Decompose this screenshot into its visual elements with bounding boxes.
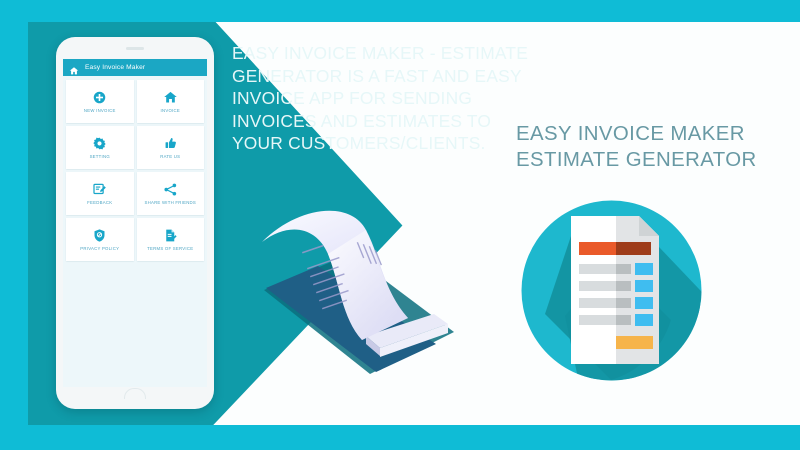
tile-label: Setting [90,154,110,159]
tile-label: Rate Us [160,154,180,159]
tile-label: Invoice [161,108,180,113]
gear-icon [92,136,107,151]
headline-text: Easy Invoice Maker - Estimate Generator … [232,42,532,155]
product-title: Easy Invoice Maker Estimate Generator [516,122,786,173]
tile-label: Privacy Policy [80,246,119,251]
share-icon [163,182,178,197]
product-title-line1: Easy Invoice Maker [516,123,745,145]
tile-invoice[interactable]: Invoice [137,80,205,123]
tile-new-invoice[interactable]: New Invoice [66,80,134,123]
phone-home-button[interactable] [124,388,146,399]
phone-screen: Easy Invoice Maker New Invoice [63,59,207,387]
app-bar: Easy Invoice Maker [63,59,207,76]
promo-banner: Easy Invoice Maker - Estimate Generator … [0,0,800,450]
tile-grid: New Invoice Invoice Setting [63,76,207,261]
document-pen-icon [163,228,178,243]
phone-speaker [126,47,144,50]
home-icon [163,90,178,105]
tile-label: Feedback [87,200,112,205]
app-bar-title: Easy Invoice Maker [85,64,145,71]
tile-privacy-policy[interactable]: Privacy Policy [66,218,134,261]
invoice-document-circle-illustration [519,198,704,383]
tile-setting[interactable]: Setting [66,126,134,169]
tile-terms-of-service[interactable]: Terms Of Service [137,218,205,261]
home-icon[interactable] [69,63,79,73]
printed-receipt-illustration [258,196,468,381]
thumbs-up-icon [163,136,178,151]
tile-label: Terms Of Service [147,246,193,251]
shield-check-icon [92,228,107,243]
phone-mockup: Easy Invoice Maker New Invoice [56,37,214,409]
tile-label: New Invoice [84,108,116,113]
tile-feedback[interactable]: Feedback [66,172,134,215]
plus-circle-icon [92,90,107,105]
feedback-edit-icon [92,182,107,197]
product-title-line2: Estimate Generator [516,149,757,171]
tile-rate-us[interactable]: Rate Us [137,126,205,169]
tile-label: Share With Friends [144,200,196,205]
tile-share-with-friends[interactable]: Share With Friends [137,172,205,215]
